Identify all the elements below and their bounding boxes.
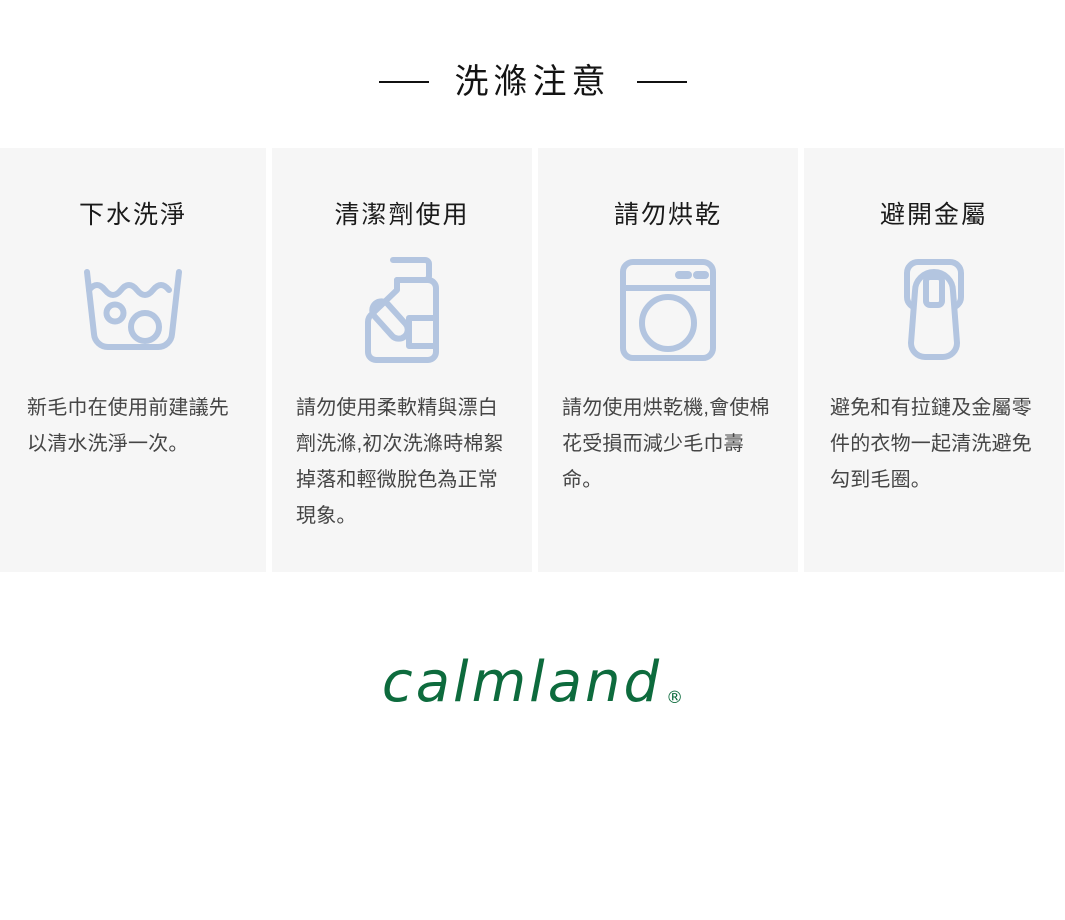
wash-tub-icon [79, 252, 187, 368]
card-description: 請勿使用柔軟精與漂白劑洗滌,初次洗滌時棉絮掉落和輕微脫色為正常現象。 [296, 390, 508, 534]
page-title: 洗滌注意 [455, 62, 611, 103]
card-avoid-metal: 避開金屬 避免和有拉鏈及金屬零件的衣物一起清洗避免勾到毛圈。 [798, 148, 1064, 572]
card-description: 新毛巾在使用前建議先以清水洗淨一次。 [27, 390, 239, 462]
card-title: 避開金屬 [880, 200, 988, 230]
card-title: 請勿烘乾 [614, 200, 722, 230]
registered-trademark-icon: ® [666, 690, 683, 707]
card-wash-in-water: 下水洗淨 新毛巾在使用前建議先以清水洗淨一次。 [0, 148, 266, 572]
brand-name: calmland [382, 655, 662, 711]
card-description: 避免和有拉鏈及金屬零件的衣物一起清洗避免勾到毛圈。 [830, 390, 1038, 498]
zipper-pull-icon [895, 252, 973, 368]
detergent-bottle-icon [359, 252, 445, 368]
divider-line-right-icon [637, 81, 687, 83]
card-detergent-use: 清潔劑使用 請勿使用柔軟精與漂白劑洗滌,初次洗滌時棉絮掉落和輕微脫色為正常現象。 [266, 148, 532, 572]
laundry-care-page: 洗滌注意 下水洗淨 新毛巾在使用前建議先以清水洗淨一次。 清潔劑使用 [0, 0, 1065, 920]
card-description: 請勿使用烘乾機,會使棉花受損而減少毛巾壽命。 [562, 390, 774, 498]
page-title-block: 洗滌注意 [0, 62, 1065, 103]
card-title: 下水洗淨 [79, 200, 187, 230]
brand-logo: calmland ® [0, 655, 1065, 711]
washing-machine-icon [618, 252, 718, 368]
card-title: 清潔劑使用 [334, 200, 469, 230]
divider-line-left-icon [379, 81, 429, 83]
card-no-tumble-dry: 請勿烘乾 請勿使用烘乾機,會使棉花受損而減少毛巾壽命。 [532, 148, 798, 572]
care-instruction-cards: 下水洗淨 新毛巾在使用前建議先以清水洗淨一次。 清潔劑使用 [0, 148, 1065, 572]
